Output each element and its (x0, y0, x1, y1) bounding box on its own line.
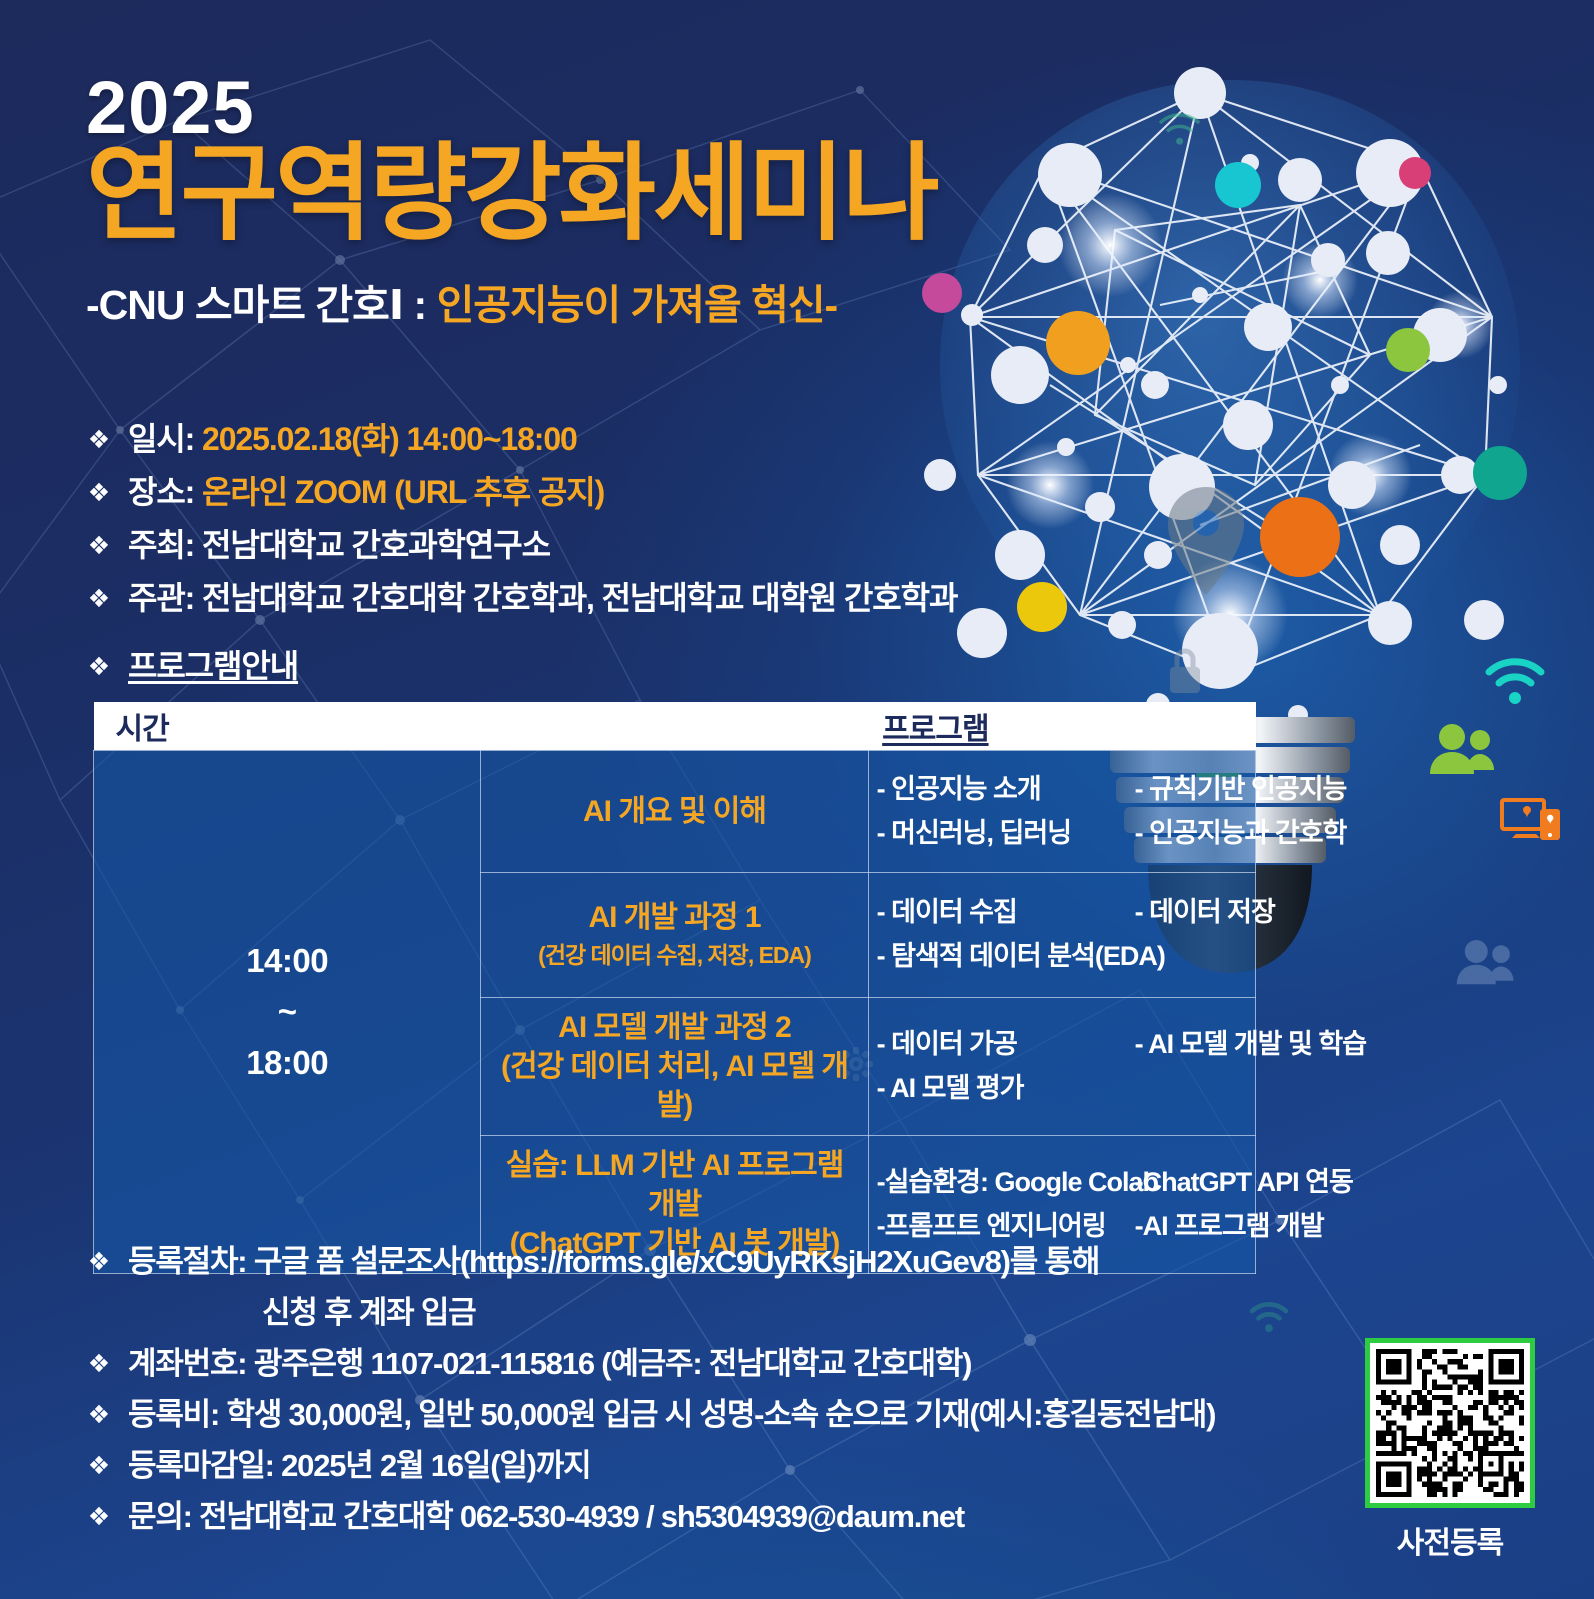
time-start: 14:00 (102, 935, 472, 986)
detail-row: -실습환경: Google Colab -ChatGPT API 연동 (877, 1167, 1247, 1198)
topic-cell: AI 개발 과정 1 (건강 데이터 수집, 저장, EDA) (481, 872, 868, 997)
detail-left: - 인공지능 소개 (877, 774, 1135, 805)
detail-row: - 데이터 수집 - 데이터 저장 (877, 897, 1247, 928)
info-value-place: 온라인 ZOOM (URL 추후 공지) (194, 474, 604, 510)
table-header-row: 시간 프로그램 (94, 702, 1256, 750)
info-row-host: ❖ 주최: 전남대학교 간호과학연구소 (86, 520, 1026, 566)
node-teal (1473, 446, 1527, 500)
detail-left: - 머신러닝, 딥러닝 (877, 818, 1135, 849)
reg-text-fee: 등록비: 학생 30,000원, 일반 50,000원 입금 시 성명-소속 순… (128, 1389, 1215, 1434)
reg-text-contact: 문의: 전남대학교 간호대학 062-530-4939 / sh5304939@… (128, 1491, 964, 1536)
topic-title: AI 모델 개발 과정 2 (558, 1011, 791, 1044)
reg-text-deadline: 등록마감일: 2025년 2월 16일(일)까지 (128, 1440, 590, 1485)
info-label-organizer: 주관: (128, 580, 194, 616)
topic-subtitle: (건강 데이터 수집, 저장, EDA) (489, 941, 859, 971)
detail-left: - 데이터 수집 (877, 897, 1135, 928)
qr-canvas (1376, 1349, 1524, 1497)
detail-right: - 데이터 저장 (1135, 897, 1275, 928)
info-label-place: 장소: (128, 474, 194, 510)
program-table-head: 시간 프로그램 (94, 702, 1256, 750)
detail-right: -ChatGPT API 연동 (1135, 1167, 1353, 1198)
poster-year: 2025 (86, 72, 986, 145)
info-row-place: ❖ 장소: 온라인 ZOOM (URL 추후 공지) (86, 467, 1026, 513)
info-value-host: 전남대학교 간호과학연구소 (194, 527, 550, 563)
topic-title: AI 개요 및 이해 (583, 795, 766, 828)
devices-icon (1500, 796, 1564, 842)
detail-row: - 탐색적 데이터 분석(EDA) (877, 941, 1247, 972)
detail-right: - 규칙기반 인공지능 (1135, 774, 1347, 805)
topic-title: AI 개발 과정 1 (588, 901, 760, 934)
program-table-wrapper: 시간 프로그램 14:00 ~ 18:00 AI 개요 및 이해 (93, 702, 1256, 1274)
detail-right (1135, 1073, 1247, 1104)
reg-row-fee: ❖ 등록비: 학생 30,000원, 일반 50,000원 입금 시 성명-소속… (86, 1389, 1416, 1434)
table-header-program: 프로그램 (868, 702, 1255, 750)
time-span-cell: 14:00 ~ 18:00 (94, 750, 481, 1273)
detail-row: - 인공지능 소개 - 규칙기반 인공지능 (877, 774, 1247, 805)
reg-text-procedure: 등록절차: 구글 폼 설문조사(https://forms.gle/xC9UyR… (128, 1236, 1099, 1281)
info-row-program-heading: ❖ 프로그램안내 (86, 641, 1026, 687)
reg-text-procedure-continuation: 신청 후 계좌 입금 (262, 1287, 1416, 1332)
node-cyan (1215, 162, 1261, 208)
program-table: 시간 프로그램 14:00 ~ 18:00 AI 개요 및 이해 (93, 702, 1256, 1274)
bullet-diamond-icon: ❖ (86, 587, 112, 612)
info-row-date: ❖ 일시: 2025.02.18(화) 14:00~18:00 (86, 414, 1026, 460)
detail-left: - AI 모델 평가 (877, 1073, 1135, 1104)
bullet-diamond-icon: ❖ (86, 534, 112, 559)
node-lime (1386, 328, 1430, 372)
poster-subtitle: -CNU 스마트 간호Ⅰ : 인공지능이 가져올 혁신- (86, 271, 986, 331)
node-pink (1399, 157, 1431, 189)
bullet-diamond-icon: ❖ (86, 655, 112, 680)
registration-info-block: ❖ 등록절차: 구글 폼 설문조사(https://forms.gle/xC9U… (86, 1236, 1416, 1542)
detail-row: - AI 모델 평가 (877, 1073, 1247, 1104)
seminar-poster: 2025 연구역량강화세미나 -CNU 스마트 간호Ⅰ : 인공지능이 가져올 … (0, 0, 1594, 1599)
qr-block: 사전등록 (1358, 1338, 1542, 1562)
table-header-time: 시간 (94, 702, 869, 750)
detail-right: - AI 모델 개발 및 학습 (1135, 1029, 1366, 1060)
info-row-organizer: ❖ 주관: 전남대학교 간호대학 간호학과, 전남대학교 대학원 간호학과 (86, 573, 1026, 619)
detail-right: - 인공지능과 간호학 (1135, 818, 1347, 849)
reg-row-contact: ❖ 문의: 전남대학교 간호대학 062-530-4939 / sh530493… (86, 1491, 1416, 1536)
bullet-diamond-icon: ❖ (86, 1505, 112, 1530)
bullet-diamond-icon: ❖ (86, 428, 112, 453)
program-heading: 프로그램안내 (128, 641, 298, 687)
subtitle-highlight: 인공지능이 가져올 혁신- (437, 282, 838, 328)
lock-icon (1170, 651, 1200, 693)
poster-main-title: 연구역량강화세미나 (86, 139, 986, 249)
wifi-icon (1483, 655, 1547, 707)
topic-cell: AI 개요 및 이해 (481, 750, 868, 872)
reg-row-account: ❖ 계좌번호: 광주은행 1107-021-115816 (예금주: 전남대학교… (86, 1338, 1416, 1383)
bullet-diamond-icon: ❖ (86, 1250, 112, 1275)
time-tilde: ~ (102, 986, 472, 1037)
bullet-diamond-icon: ❖ (86, 1403, 112, 1428)
topic-cell: AI 모델 개발 과정 2 (건강 데이터 처리, AI 모델 개발) (481, 997, 868, 1135)
bullet-diamond-icon: ❖ (86, 1454, 112, 1479)
detail-cell: - 데이터 수집 - 데이터 저장 - 탐색적 데이터 분석(EDA) (868, 872, 1255, 997)
detail-cell: - 데이터 가공 - AI 모델 개발 및 학습 - AI 모델 평가 (868, 997, 1255, 1135)
wifi-faded-icon (1160, 115, 1199, 145)
detail-row: - 머신러닝, 딥러닝 - 인공지능과 간호학 (877, 818, 1247, 849)
event-info-block: ❖ 일시: 2025.02.18(화) 14:00~18:00 ❖ 장소: 온라… (86, 414, 1026, 742)
reg-row-deadline: ❖ 등록마감일: 2025년 2월 16일(일)까지 (86, 1440, 1416, 1485)
program-table-body: 14:00 ~ 18:00 AI 개요 및 이해 - 인공지능 소개 - 규칙기… (94, 750, 1256, 1273)
info-label-date: 일시: (128, 421, 194, 457)
bullet-diamond-icon: ❖ (86, 1352, 112, 1377)
detail-cell: - 인공지능 소개 - 규칙기반 인공지능 - 머신러닝, 딥러닝 - 인공지능… (868, 750, 1255, 872)
info-value-organizer: 전남대학교 간호대학 간호학과, 전남대학교 대학원 간호학과 (194, 580, 957, 616)
detail-row: - 데이터 가공 - AI 모델 개발 및 학습 (877, 1029, 1247, 1060)
title-block: 2025 연구역량강화세미나 -CNU 스마트 간호Ⅰ : 인공지능이 가져올 … (86, 72, 986, 331)
people-icon (1428, 724, 1498, 776)
subtitle-separator: : (403, 282, 436, 328)
node-gold (1046, 311, 1110, 375)
bullet-diamond-icon: ❖ (86, 481, 112, 506)
location-pin-icon (1168, 487, 1244, 595)
detail-right (1135, 941, 1247, 972)
detail-left: -실습환경: Google Colab (877, 1167, 1135, 1198)
topic-line2: (건강 데이터 처리, AI 모델 개발) (489, 1047, 859, 1125)
subtitle-prefix: -CNU 스마트 간호Ⅰ (86, 282, 403, 328)
info-label-host: 주최: (128, 527, 194, 563)
node-orange (1260, 497, 1340, 577)
table-row: 14:00 ~ 18:00 AI 개요 및 이해 - 인공지능 소개 - 규칙기… (94, 750, 1256, 872)
topic-title: 실습: LLM 기반 AI 프로그램 개발 (506, 1149, 844, 1221)
qr-label: 사전등록 (1358, 1518, 1542, 1562)
detail-left: - 데이터 가공 (877, 1029, 1135, 1060)
people-faded-icon (1455, 940, 1517, 986)
info-value-date: 2025.02.18(화) 14:00~18:00 (194, 421, 576, 457)
reg-text-account: 계좌번호: 광주은행 1107-021-115816 (예금주: 전남대학교 간… (128, 1338, 971, 1383)
qr-code[interactable] (1365, 1338, 1535, 1508)
detail-left: - 탐색적 데이터 분석(EDA) (877, 941, 1135, 972)
time-end: 18:00 (102, 1037, 472, 1088)
reg-row-procedure: ❖ 등록절차: 구글 폼 설문조사(https://forms.gle/xC9U… (86, 1236, 1416, 1281)
